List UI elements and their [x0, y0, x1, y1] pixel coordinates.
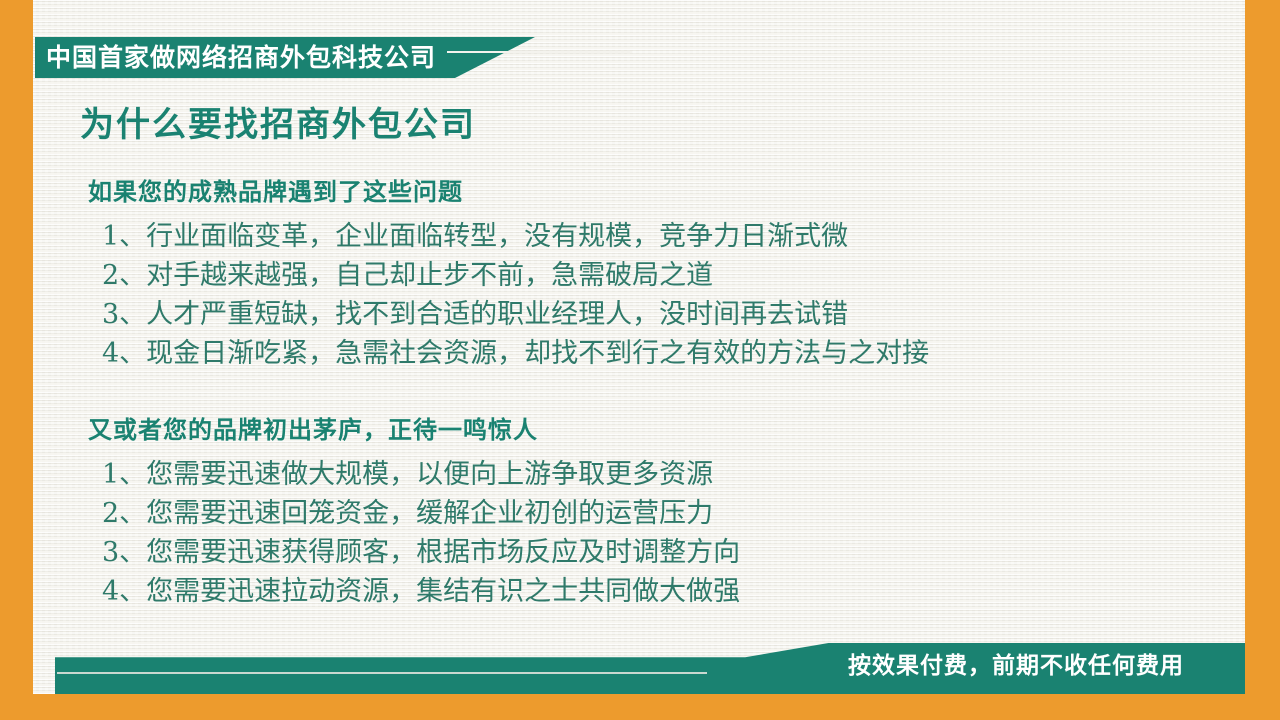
footer-tagline: 按效果付费，前期不收任何费用 [848, 651, 1184, 681]
list-item: 3、人才严重短缺，找不到合适的职业经理人，没时间再去试错 [102, 295, 1245, 334]
section-new-brand: 又或者您的品牌初出茅庐，正待一鸣惊人 1、您需要迅速做大规模，以便向上游争取更多… [33, 413, 1245, 611]
slide-content: 为什么要找招商外包公司 如果您的成熟品牌遇到了这些问题 1、行业面临变革，企业面… [33, 100, 1245, 611]
page-title: 为什么要找招商外包公司 [33, 100, 1245, 150]
list-item: 1、您需要迅速做大规模，以便向上游争取更多资源 [102, 455, 1245, 494]
section-mature-brand: 如果您的成熟品牌遇到了这些问题 1、行业面临变革，企业面临转型，没有规模，竞争力… [33, 175, 1245, 373]
list-item: 4、您需要迅速拉动资源，集结有识之士共同做大做强 [102, 572, 1245, 611]
slide-root: 中国首家做网络招商外包科技公司 为什么要找招商外包公司 如果您的成熟品牌遇到了这… [0, 0, 1280, 720]
list-item: 1、行业面临变革，企业面临转型，没有规模，竞争力日渐式微 [102, 217, 1245, 256]
list-item: 2、您需要迅速回笼资金，缓解企业初创的运营压力 [102, 494, 1245, 533]
footer-divider-rule [57, 672, 707, 674]
list-item: 2、对手越来越强，自己却止步不前，急需破局之道 [102, 256, 1245, 295]
header-divider-rule [447, 51, 632, 53]
section-heading-mature-brand: 如果您的成熟品牌遇到了这些问题 [88, 175, 1245, 209]
list-item: 4、现金日渐吃紧，急需社会资源，却找不到行之有效的方法与之对接 [102, 334, 1245, 373]
list-mature-brand-problems: 1、行业面临变革，企业面临转型，没有规模，竞争力日渐式微 2、对手越来越强，自己… [88, 217, 1245, 373]
header-banner-label: 中国首家做网络招商外包科技公司 [46, 43, 436, 73]
list-item: 3、您需要迅速获得顾客，根据市场反应及时调整方向 [102, 533, 1245, 572]
section-heading-new-brand: 又或者您的品牌初出茅庐，正待一鸣惊人 [88, 413, 1245, 447]
list-new-brand-needs: 1、您需要迅速做大规模，以便向上游争取更多资源 2、您需要迅速回笼资金，缓解企业… [88, 455, 1245, 611]
